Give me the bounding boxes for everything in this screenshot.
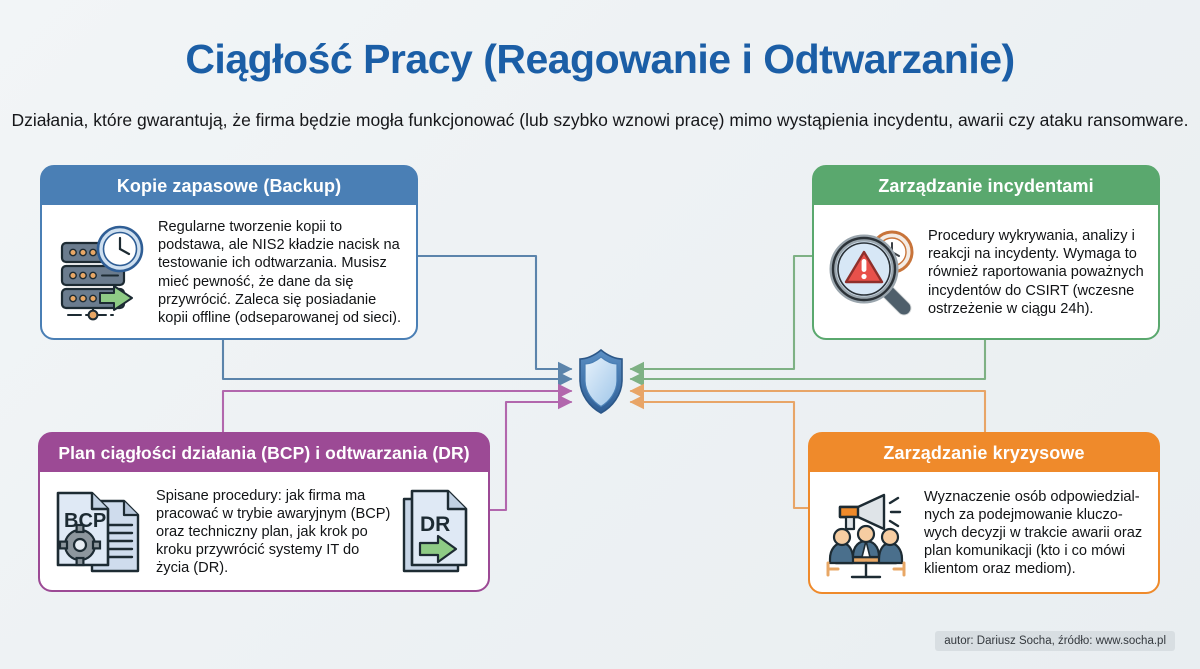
connector-crisis-a — [631, 391, 985, 432]
dr-document-arrow-icon: DR — [392, 483, 476, 581]
shield-icon — [580, 350, 622, 413]
card-backup-title: Kopie zapasowe (Backup) — [42, 167, 416, 205]
card-crisis[interactable]: Zarządzanie kryzysowe — [808, 432, 1160, 594]
card-bcp-dr-title: Plan ciągłości działania (BCP) i odtwarz… — [40, 434, 488, 472]
card-bcp-dr-text: Spisane procedury: jak firma ma pracować… — [148, 487, 392, 577]
infographic-canvas: Ciągłość Pracy (Reagowanie i Odtwarzanie… — [0, 0, 1200, 669]
connector-backup-a — [418, 256, 571, 369]
connector-backup-b — [223, 340, 571, 379]
megaphone-meeting-icon — [820, 485, 916, 581]
connector-crisis-b — [631, 402, 808, 508]
card-backup[interactable]: Kopie zapasowe (Backup) — [40, 165, 418, 340]
connector-incident-b — [631, 340, 985, 379]
connector-bcp-a — [223, 391, 571, 432]
card-incident-title: Zarządzanie incydentami — [814, 167, 1158, 205]
bcp-label: BCP — [64, 510, 106, 532]
card-crisis-title: Zarządzanie kryzysowe — [810, 434, 1158, 472]
dr-label: DR — [420, 513, 450, 536]
author-credit: autor: Dariusz Socha, źródło: www.socha.… — [935, 631, 1175, 651]
connector-bcp-b — [490, 402, 571, 510]
card-incident[interactable]: Zarządzanie incydentami — [812, 165, 1160, 340]
magnifier-warning-clock-icon — [824, 224, 920, 322]
bcp-document-gear-icon: BCP — [50, 483, 148, 581]
page-subtitle: Działania, które gwarantują, że firma bę… — [0, 110, 1200, 131]
card-backup-text: Regularne tworzenie kopii to podstawa, a… — [150, 218, 404, 326]
connector-incident-a — [631, 256, 812, 369]
card-bcp-dr[interactable]: Plan ciągłości działania (BCP) i odtwarz… — [38, 432, 490, 592]
card-incident-text: Procedury wykrywania, analizy i reakcji … — [920, 227, 1146, 317]
page-title: Ciągłość Pracy (Reagowanie i Odtwarzanie… — [0, 36, 1200, 83]
server-clock-restore-icon — [52, 223, 150, 323]
card-crisis-text: Wyznaczenie osób odpowiedzial-nych za po… — [916, 488, 1146, 578]
